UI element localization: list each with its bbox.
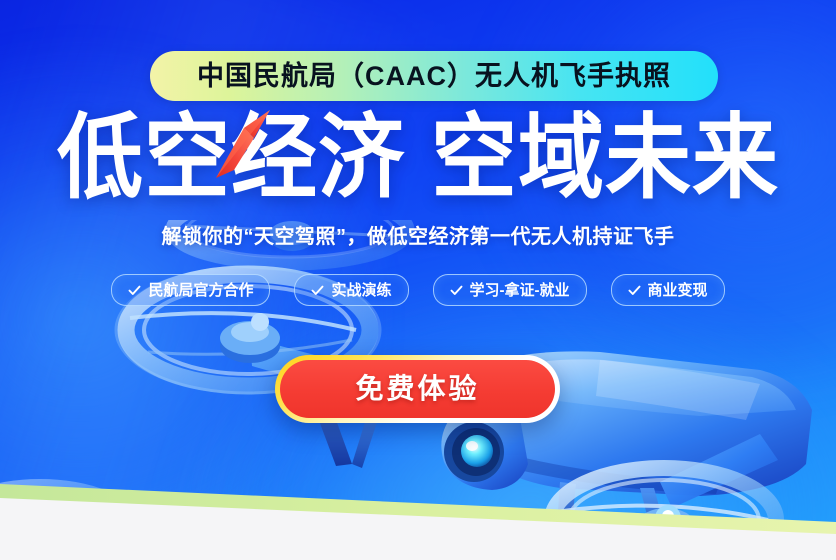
banner-content: 中国民航局（CAAC）无人机飞手执照 低空经济 空域未来 (0, 0, 836, 560)
free-trial-button-inner: 免费体验 (280, 360, 555, 418)
feature-pill-0[interactable]: 民航局官方合作 (111, 274, 270, 306)
feature-pill-label-2: 学习-拿证-就业 (470, 283, 570, 298)
check-icon (628, 284, 641, 297)
check-icon (311, 284, 324, 297)
feature-pill-2[interactable]: 学习-拿证-就业 (433, 274, 587, 306)
check-icon (128, 284, 141, 297)
free-trial-button[interactable]: 免费体验 (275, 355, 560, 423)
free-trial-button-label: 免费体验 (355, 375, 479, 403)
subtitle-text: 解锁你的“天空驾照”，做低空经济第一代无人机持证飞手 (162, 226, 675, 248)
feature-pill-label-0: 民航局官方合作 (148, 283, 253, 298)
title-part-1: 低空经济 (57, 111, 405, 204)
feature-pill-3[interactable]: 商业变现 (611, 274, 725, 306)
feature-pill-list: 民航局官方合作 实战演练 学习-拿证-就业 商业变现 (0, 274, 836, 306)
feature-pill-1[interactable]: 实战演练 (294, 274, 408, 306)
feature-pill-label-1: 实战演练 (331, 283, 391, 298)
certification-badge: 中国民航局（CAAC）无人机飞手执照 (150, 51, 718, 101)
feature-pill-label-3: 商业变现 (648, 283, 708, 298)
certification-badge-label: 中国民航局（CAAC）无人机飞手执照 (197, 63, 671, 90)
check-icon (450, 284, 463, 297)
title-part-2: 空域未来 (431, 111, 779, 204)
subtitle: 解锁你的“天空驾照”，做低空经济第一代无人机持证飞手 (0, 224, 836, 250)
promo-banner: 中国民航局（CAAC）无人机飞手执照 低空经济 空域未来 (0, 0, 836, 560)
page-title: 低空经济 空域未来 (0, 105, 836, 210)
